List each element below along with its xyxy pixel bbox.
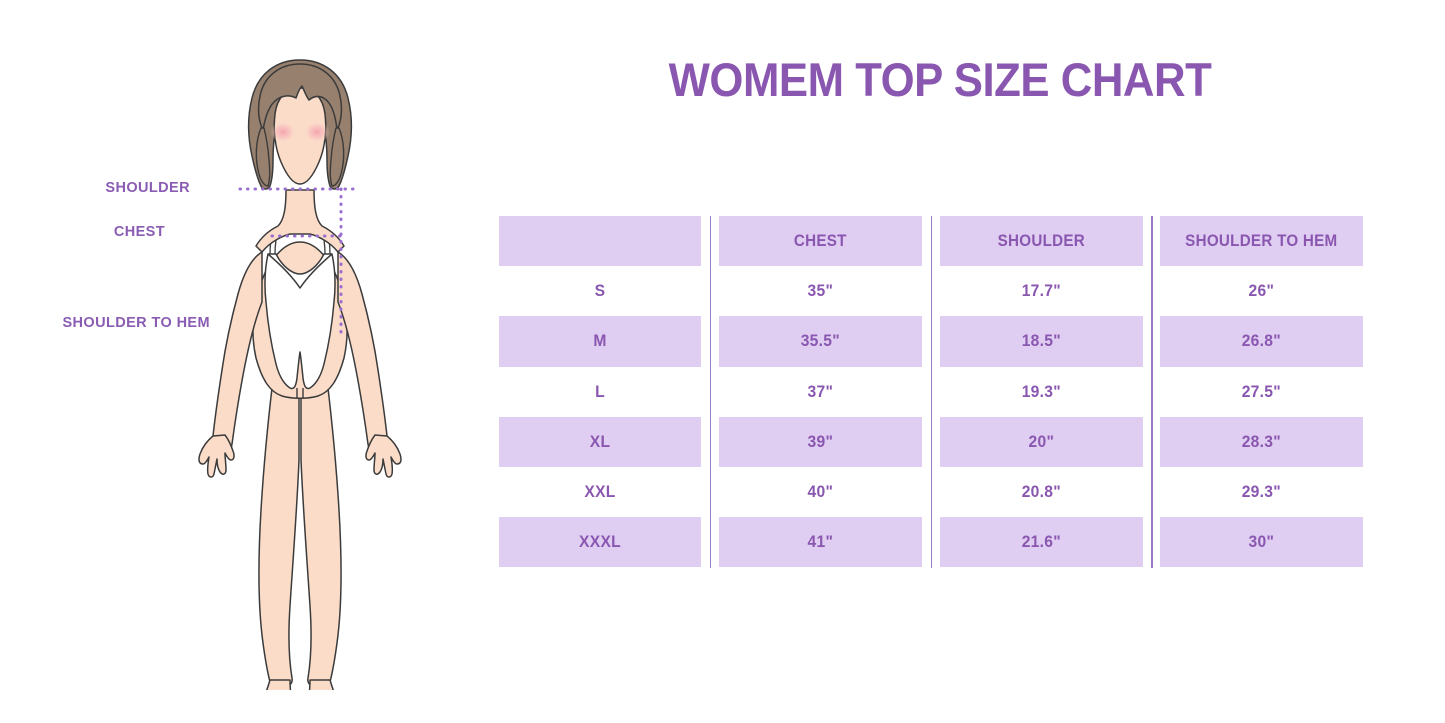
table-row: M 35.5" 18.5" 26.8" — [490, 316, 1372, 366]
cell-shoulder-to-hem: 27.5" — [1160, 367, 1363, 417]
cell-shoulder: 20.8" — [940, 467, 1143, 517]
head-shape — [249, 60, 352, 189]
table-body: S 35" 17.7" 26" M 35.5" 18.5" 26.8" L 37… — [490, 266, 1372, 567]
cell-size: M — [499, 316, 701, 366]
cell-shoulder: 20" — [940, 417, 1143, 467]
cell-chest: 37" — [719, 367, 922, 417]
cell-size: S — [499, 266, 701, 316]
table-header-row: CHEST SHOULDER SHOULDER TO HEM — [490, 216, 1372, 266]
cell-chest: 41" — [719, 517, 922, 567]
cell-shoulder: 17.7" — [940, 266, 1143, 316]
cell-chest: 35" — [719, 266, 922, 316]
size-chart-table-wrap: CHEST SHOULDER SHOULDER TO HEM S 35" 17.… — [490, 216, 1372, 568]
header-cell-shoulder: SHOULDER — [940, 216, 1143, 266]
cell-shoulder: 18.5" — [940, 316, 1143, 366]
chest-label: CHEST — [0, 224, 165, 240]
figure-panel: SHOULDER CHEST SHOULDER TO HEM — [0, 0, 470, 723]
cell-shoulder-to-hem: 26" — [1160, 266, 1363, 316]
cell-shoulder-to-hem: 26.8" — [1160, 316, 1363, 366]
table-row: L 37" 19.3" 27.5" — [490, 367, 1372, 417]
header-cell-size — [499, 216, 701, 266]
body-illustration — [178, 40, 422, 690]
cell-chest: 35.5" — [719, 316, 922, 366]
cell-size: L — [499, 367, 701, 417]
shoulder-to-hem-label: SHOULDER TO HEM — [0, 315, 210, 331]
header-cell-shoulder-to-hem: SHOULDER TO HEM — [1160, 216, 1363, 266]
cell-size: XL — [499, 417, 701, 467]
cell-shoulder-to-hem: 28.3" — [1160, 417, 1363, 467]
body-illustration-svg — [178, 40, 422, 690]
cell-shoulder: 21.6" — [940, 517, 1143, 567]
table-row: XXXL 41" 21.6" 30" — [490, 517, 1372, 567]
cell-size: XXXL — [499, 517, 701, 567]
cell-shoulder-to-hem: 30" — [1160, 517, 1363, 567]
cell-size: XXL — [499, 467, 701, 517]
cell-shoulder: 19.3" — [940, 367, 1143, 417]
shoulder-label: SHOULDER — [0, 180, 190, 196]
table-header: CHEST SHOULDER SHOULDER TO HEM — [490, 216, 1372, 266]
table-row: XL 39" 20" 28.3" — [490, 417, 1372, 467]
page-title: WOMEM TOP SIZE CHART — [503, 52, 1377, 107]
cell-shoulder-to-hem: 29.3" — [1160, 467, 1363, 517]
table-row: S 35" 17.7" 26" — [490, 266, 1372, 316]
size-chart-table: CHEST SHOULDER SHOULDER TO HEM S 35" 17.… — [490, 216, 1372, 567]
cell-chest: 39" — [719, 417, 922, 467]
table-row: XXL 40" 20.8" 29.3" — [490, 467, 1372, 517]
cell-chest: 40" — [719, 467, 922, 517]
header-cell-chest: CHEST — [719, 216, 922, 266]
